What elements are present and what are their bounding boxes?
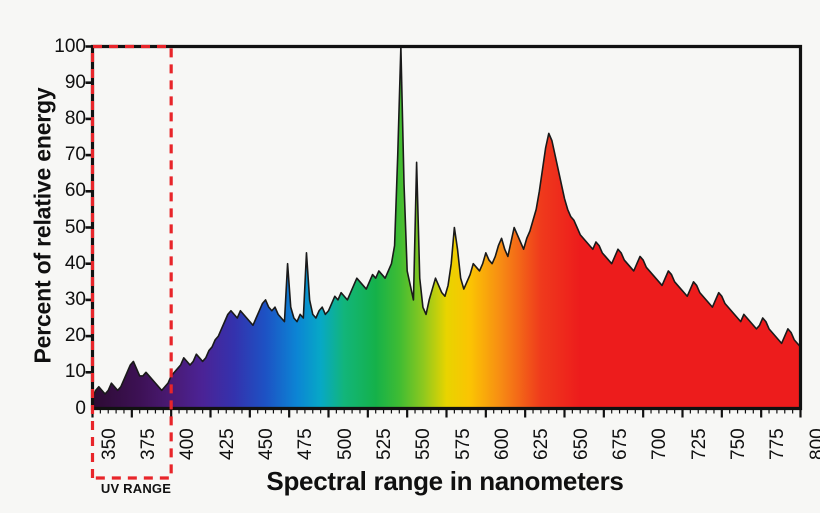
- x-tick-label-350: 350: [100, 428, 119, 460]
- x-tick-label-750: 750: [729, 428, 748, 460]
- x-tick-label-550: 550: [414, 428, 433, 460]
- x-tick-label-425: 425: [218, 428, 237, 460]
- uv-range-label: UV RANGE: [68, 481, 204, 496]
- x-tick-label-675: 675: [611, 428, 630, 460]
- x-tick-label-600: 600: [493, 428, 512, 460]
- x-axis-title: Spectral range in nanometers: [200, 466, 690, 497]
- x-tick-label-525: 525: [375, 428, 394, 460]
- x-tick-label-700: 700: [650, 428, 669, 460]
- y-axis-title: Percent of relative energy: [30, 31, 57, 421]
- x-tick-label-475: 475: [296, 428, 315, 460]
- spectral-chart: 0102030405060708090100 35037540042545047…: [0, 0, 820, 513]
- x-tick-label-800: 800: [808, 428, 820, 460]
- x-axis-tick-labels: 3503754004254504755005255505756006256506…: [0, 0, 820, 513]
- x-tick-label-575: 575: [454, 428, 473, 460]
- x-tick-label-500: 500: [336, 428, 355, 460]
- x-tick-label-625: 625: [532, 428, 551, 460]
- x-tick-label-400: 400: [178, 428, 197, 460]
- x-tick-label-650: 650: [572, 428, 591, 460]
- x-tick-label-725: 725: [690, 428, 709, 460]
- x-tick-label-375: 375: [139, 428, 158, 460]
- x-tick-label-775: 775: [768, 428, 787, 460]
- x-tick-label-450: 450: [257, 428, 276, 460]
